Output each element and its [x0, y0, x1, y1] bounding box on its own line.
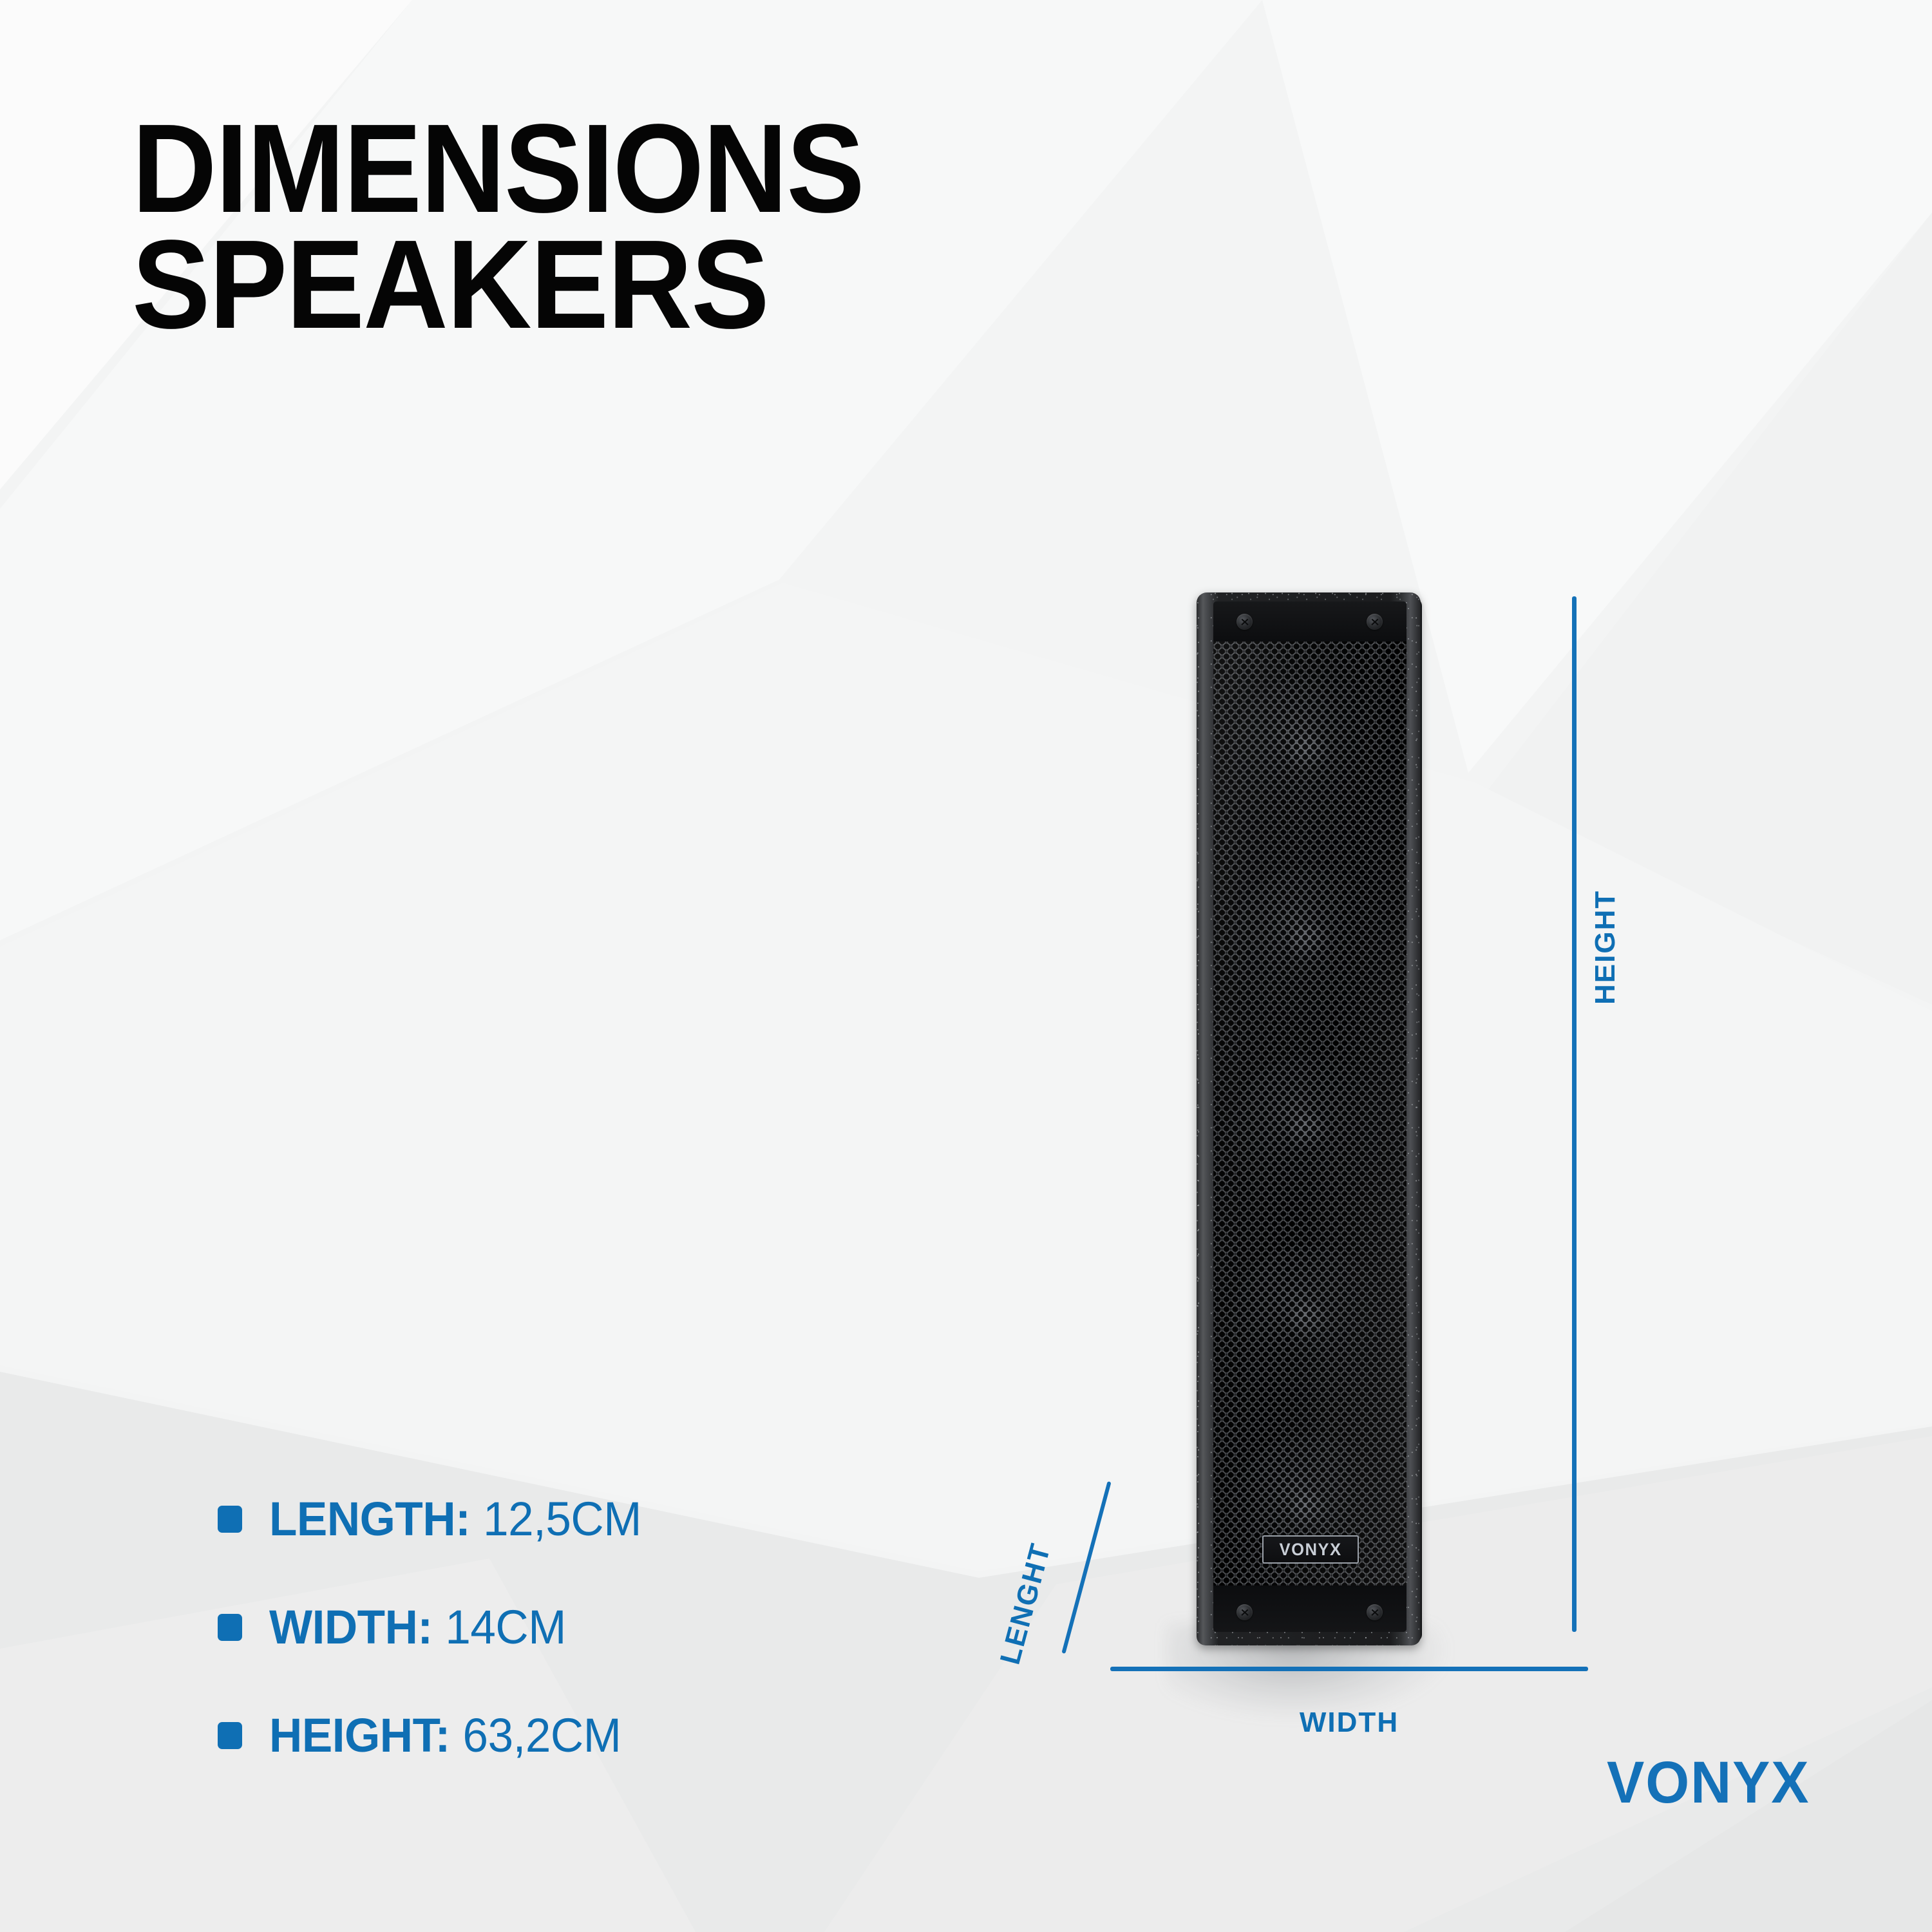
list-item: WIDTH: 14CM — [218, 1600, 990, 1655]
title-line-1: DIMENSIONS — [132, 111, 1150, 227]
speaker-baffle: VONYX — [1213, 601, 1406, 1632]
spec-label-width: WIDTH: — [269, 1600, 433, 1654]
spec-value-height: 63,2CM — [463, 1709, 621, 1762]
list-item: HEIGHT: 63,2CM — [218, 1708, 990, 1763]
list-item: LENGTH: 12,5CM — [218, 1492, 990, 1547]
spec-label-height: HEIGHT: — [269, 1709, 450, 1762]
page-title: DIMENSIONS SPEAKERS — [132, 111, 1227, 343]
brand-logo: VONYX — [1607, 1749, 1810, 1817]
product-brand-badge: VONYX — [1262, 1535, 1359, 1564]
spec-value-width: 14CM — [445, 1600, 566, 1654]
width-guide-line — [1110, 1667, 1588, 1671]
screw-icon — [1367, 614, 1383, 630]
bullet-square-icon — [218, 1722, 242, 1749]
spec-value-length: 12,5CM — [483, 1492, 641, 1546]
hex-grille — [1213, 641, 1406, 1586]
bullet-square-icon — [218, 1506, 242, 1533]
screw-icon — [1236, 1604, 1253, 1620]
product-brand-badge-text: VONYX — [1280, 1540, 1342, 1560]
speaker-product-image: VONYX — [1191, 592, 1430, 1674]
height-guide-line — [1572, 596, 1577, 1632]
width-guide-label: WIDTH — [1110, 1707, 1588, 1739]
bullet-square-icon — [218, 1614, 242, 1641]
screw-icon — [1236, 614, 1253, 630]
height-guide-label: HEIGHT — [1589, 890, 1622, 1005]
infographic-canvas: DIMENSIONS SPEAKERS LENGTH: 12,5CM WIDTH… — [0, 0, 1932, 1932]
speaker-cabinet: VONYX — [1197, 592, 1421, 1645]
spec-label-length: LENGTH: — [269, 1492, 470, 1546]
dimensions-list: LENGTH: 12,5CM WIDTH: 14CM HEIGHT: 63,2C… — [218, 1492, 990, 1816]
screw-icon — [1367, 1604, 1383, 1620]
title-line-2: SPEAKERS — [132, 227, 1150, 343]
